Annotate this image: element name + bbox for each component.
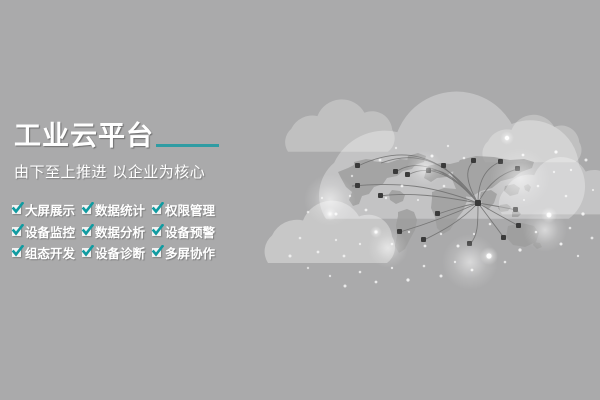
check-icon bbox=[152, 226, 163, 237]
feature-label: 大屏展示 bbox=[25, 200, 75, 219]
feature-label: 数据分析 bbox=[95, 222, 145, 241]
glow-blooms bbox=[304, 148, 567, 290]
feature-label: 组态开发 bbox=[25, 243, 75, 262]
feature-item[interactable]: 设备监控 bbox=[12, 221, 82, 243]
title-underline-rule bbox=[156, 144, 219, 147]
check-icon bbox=[82, 247, 93, 258]
check-icon bbox=[12, 247, 23, 258]
feature-item[interactable]: 设备预警 bbox=[152, 221, 232, 243]
sparkle-cores bbox=[323, 131, 557, 265]
check-icon bbox=[82, 226, 93, 237]
feature-item[interactable]: 数据分析 bbox=[82, 221, 152, 243]
feature-item[interactable]: 权限管理 bbox=[152, 199, 232, 221]
cloud-back-right bbox=[482, 115, 581, 162]
promo-banner: 工业云平台 由下至上推进 以企业为核心 大屏展示 数据统计 权限 bbox=[0, 0, 600, 400]
check-icon bbox=[12, 226, 23, 237]
network-nodes bbox=[355, 158, 521, 246]
cloud-front-right bbox=[499, 157, 600, 214]
feature-item[interactable]: 设备诊断 bbox=[82, 242, 152, 264]
feature-item[interactable]: 大屏展示 bbox=[12, 199, 82, 221]
feature-label: 设备监控 bbox=[25, 222, 75, 241]
feature-item[interactable]: 组态开发 bbox=[12, 242, 82, 264]
check-icon bbox=[152, 204, 163, 215]
feature-item[interactable]: 数据统计 bbox=[82, 199, 152, 221]
check-icon bbox=[82, 204, 93, 215]
feature-label: 权限管理 bbox=[165, 200, 215, 219]
feature-label: 多屏协作 bbox=[165, 243, 215, 262]
feature-item[interactable]: 多屏协作 bbox=[152, 242, 232, 264]
title-row: 工业云平台 bbox=[14, 118, 274, 152]
feature-label: 设备预警 bbox=[165, 222, 215, 241]
feature-label: 设备诊断 bbox=[95, 243, 145, 262]
page-title: 工业云平台 bbox=[14, 122, 154, 152]
cloud-back-left bbox=[285, 99, 395, 151]
check-icon bbox=[12, 204, 23, 215]
hero-text-block: 工业云平台 由下至上推进 以企业为核心 bbox=[14, 118, 274, 182]
check-icon bbox=[152, 247, 163, 258]
sparkle-particles bbox=[289, 136, 595, 288]
cloud-main bbox=[319, 92, 585, 219]
feature-list: 大屏展示 数据统计 权限管理 设备监控 bbox=[12, 199, 232, 264]
world-map bbox=[338, 153, 542, 253]
network-arcs bbox=[352, 155, 519, 244]
feature-label: 数据统计 bbox=[95, 200, 145, 219]
cloud-front-left bbox=[265, 201, 395, 263]
page-subtitle: 由下至上推进 以企业为核心 bbox=[14, 161, 274, 182]
